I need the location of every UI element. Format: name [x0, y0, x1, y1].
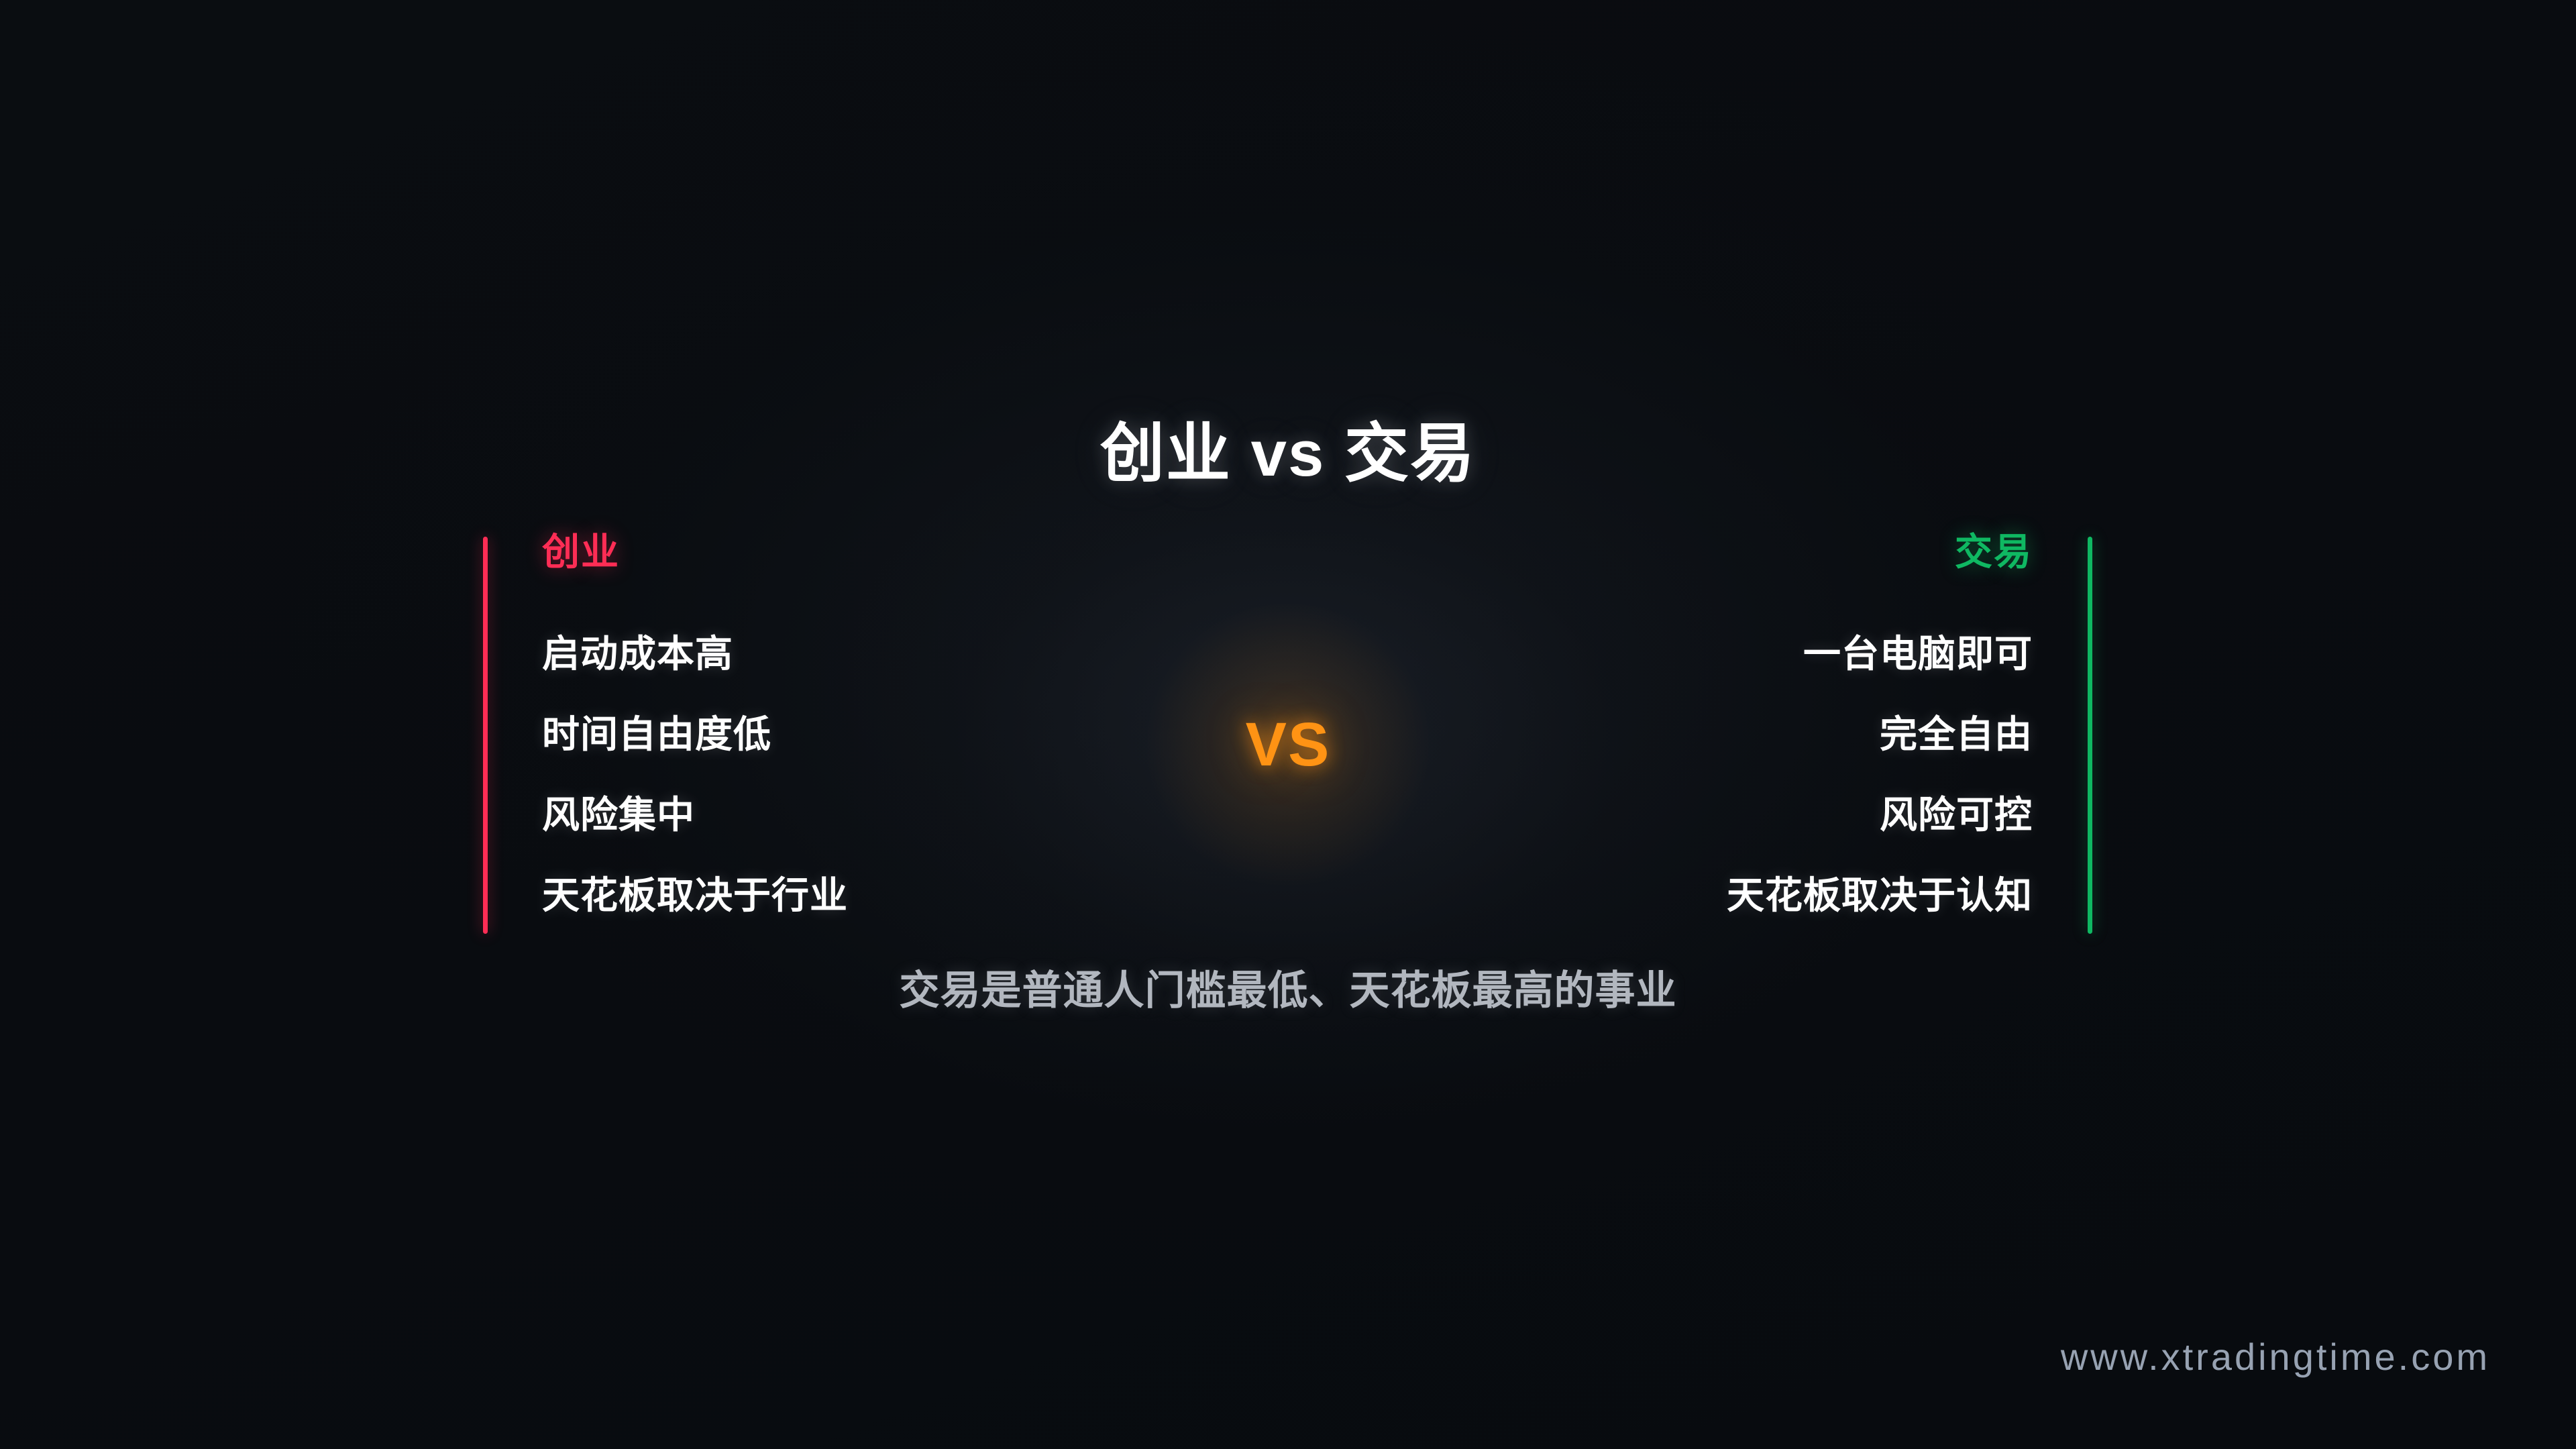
versus-label: VS	[1246, 710, 1331, 780]
page-title: 创业 vs 交易	[0, 417, 2576, 491]
footer-website-url: www.xtradingtime.com	[2061, 1335, 2490, 1379]
tagline: 交易是普通人门槛最低、天花板最高的事业	[0, 958, 2576, 1016]
left-column-heading: 创业	[542, 533, 1186, 582]
right-accent-bar	[2088, 537, 2092, 934]
right-column-heading: 交易	[1389, 533, 2033, 582]
list-item: 天花板取决于认知	[1389, 855, 2033, 936]
list-item: 天花板取决于行业	[542, 855, 1186, 936]
left-accent-bar	[483, 537, 488, 934]
versus-badge: VS	[1087, 624, 1489, 865]
comparison-slide: 创业 vs 交易 创业 启动成本高 时间自由度低 风险集中 天花板取决于行业 交…	[0, 0, 2576, 1449]
